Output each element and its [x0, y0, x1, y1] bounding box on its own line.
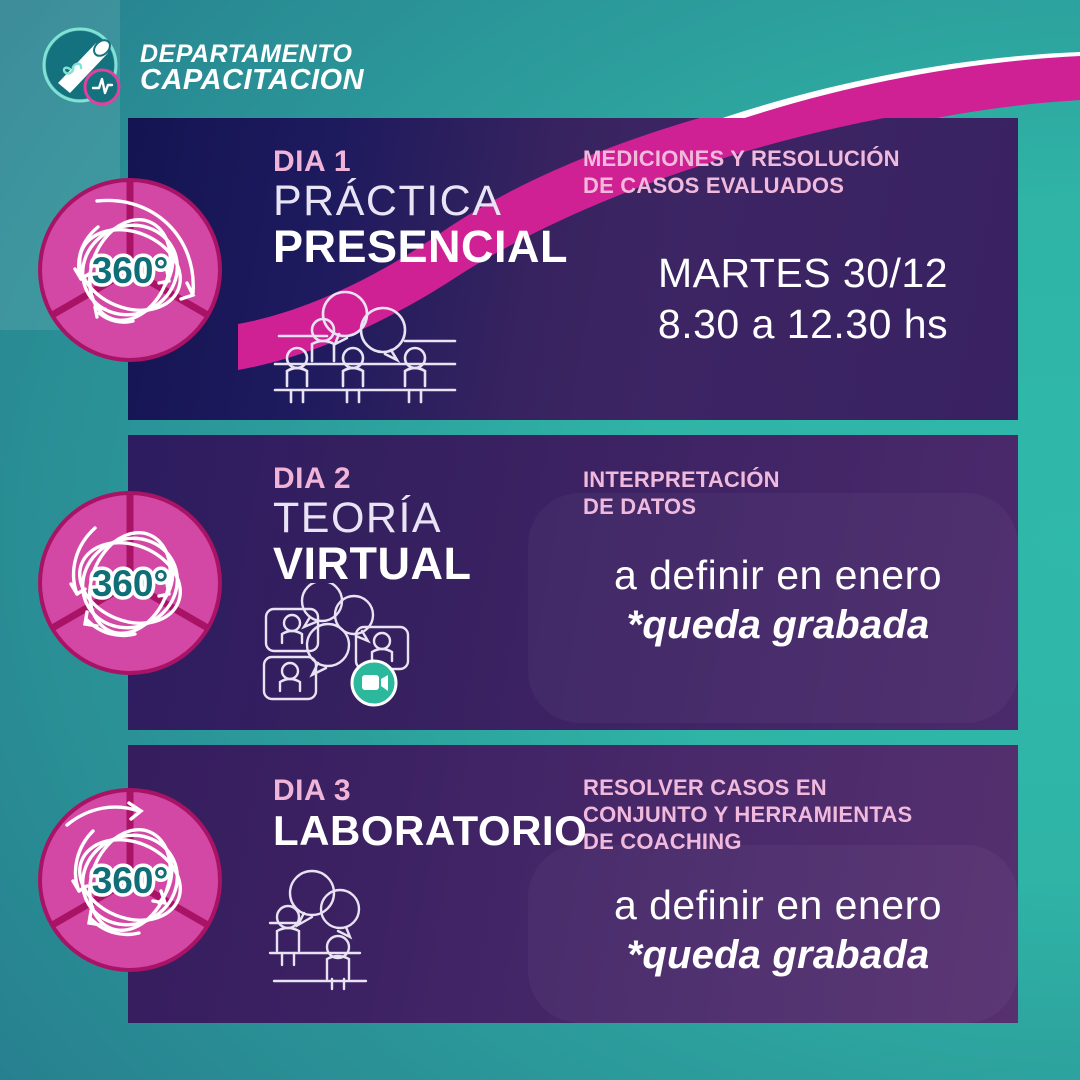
card-2-topic-line-2: DE DATOS — [583, 494, 983, 521]
card-1-left-column: DIA 1 PRÁCTICA PRESENCIAL — [273, 146, 573, 271]
card-2-left-column: DIA 2 TEORÍA VIRTUAL — [273, 463, 573, 588]
card-2-day-label: DIA 2 — [273, 463, 573, 495]
badge-360-card-2: 360° — [35, 488, 225, 678]
card-2-topic: INTERPRETACIÓN DE DATOS — [583, 467, 983, 521]
card-3-topic: RESOLVER CASOS EN CONJUNTO Y HERRAMIENTA… — [583, 775, 1003, 855]
card-3-schedule-line-1: a definir en enero — [548, 880, 1008, 931]
card-1-day-label: DIA 1 — [273, 146, 573, 178]
poster-canvas: DEPARTAMENTO CAPACITACION DIA 1 PRÁCTICA… — [0, 0, 1080, 1080]
logo-line-2: CAPACITACION — [140, 66, 364, 94]
brand-logo: DEPARTAMENTO CAPACITACION — [40, 24, 370, 112]
card-1-schedule: MARTES 30/12 8.30 a 12.30 hs — [598, 248, 1008, 351]
card-3-topic-line-2: CONJUNTO Y HERRAMIENTAS — [583, 802, 1003, 829]
card-1-topic-line-1: MEDICIONES Y RESOLUCIÓN — [583, 146, 983, 173]
meeting-people-icon — [260, 867, 420, 992]
diploma-scroll-icon — [40, 25, 126, 111]
card-3-schedule: a definir en enero *queda grabada — [548, 880, 1008, 979]
svg-text:360°: 360° — [92, 563, 169, 604]
card-3-day-label: DIA 3 — [273, 775, 573, 807]
card-2-schedule: a definir en enero *queda grabada — [548, 550, 1008, 649]
day-card-1[interactable]: DIA 1 PRÁCTICA PRESENCIAL — [128, 118, 1018, 420]
card-2-schedule-line-1: a definir en enero — [548, 550, 1008, 601]
day-card-3[interactable]: DIA 3 LABORATORIO — [128, 745, 1018, 1023]
day-card-2[interactable]: DIA 2 TEORÍA VIRTUAL — [128, 435, 1018, 730]
card-1-title-bold: PRESENCIAL — [273, 223, 573, 270]
badge-360-label: 360° — [92, 250, 169, 291]
card-2-schedule-emphasis: *queda grabada — [548, 601, 1008, 649]
card-3-schedule-emphasis: *queda grabada — [548, 931, 1008, 979]
card-1-schedule-line-2: 8.30 a 12.30 hs — [598, 299, 1008, 350]
card-1-title-thin: PRÁCTICA — [273, 180, 573, 224]
svg-text:360°: 360° — [92, 860, 169, 901]
card-2-title-thin: TEORÍA — [273, 497, 573, 541]
card-3-left-column: DIA 3 LABORATORIO — [273, 775, 573, 853]
video-conference-icon — [258, 583, 418, 708]
card-3-topic-line-3: DE COACHING — [583, 829, 1003, 856]
card-1-schedule-line-1: MARTES 30/12 — [598, 248, 1008, 299]
logo-line-1: DEPARTAMENTO — [140, 42, 364, 66]
classroom-people-icon — [265, 286, 465, 406]
card-1-topic: MEDICIONES Y RESOLUCIÓN DE CASOS EVALUAD… — [583, 146, 983, 200]
card-3-title-bold: LABORATORIO — [273, 809, 573, 853]
card-1-topic-line-2: DE CASOS EVALUADOS — [583, 173, 983, 200]
badge-360-card-3: 360° — [35, 785, 225, 975]
card-2-topic-line-1: INTERPRETACIÓN — [583, 467, 983, 494]
card-3-topic-line-1: RESOLVER CASOS EN — [583, 775, 1003, 802]
card-2-title-bold: VIRTUAL — [273, 540, 573, 587]
badge-360-card-1: 360° — [35, 175, 225, 365]
